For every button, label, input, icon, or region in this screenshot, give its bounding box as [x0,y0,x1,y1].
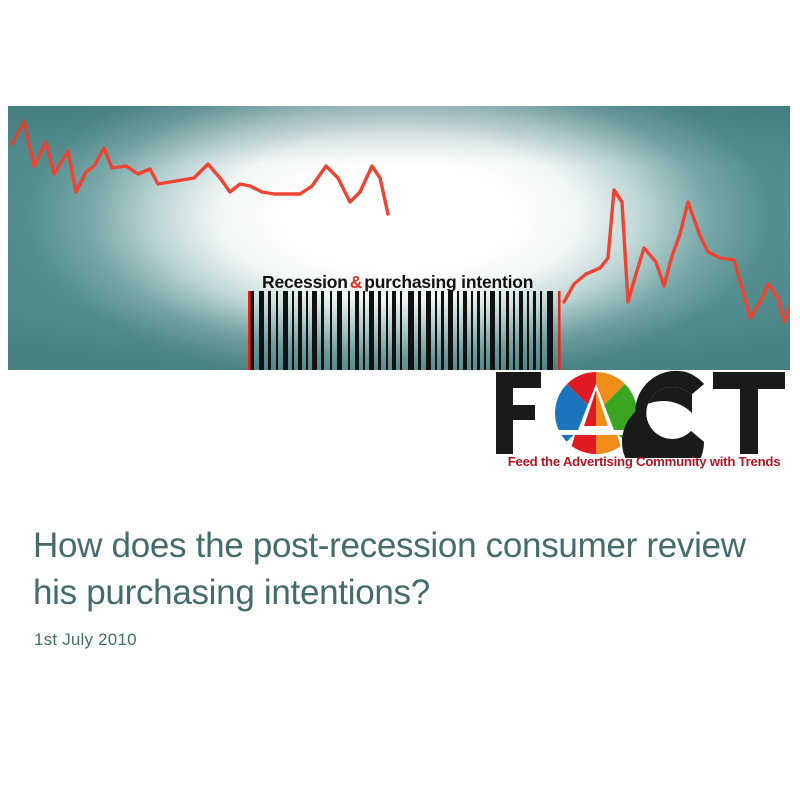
barcode-label-prefix: Recession [262,272,348,293]
logo-letter-c-shape [622,371,704,458]
logo-letter-f-shape [496,372,541,454]
recession-banner: Recession & purchasing intention [8,106,790,370]
page-date: 1st July 2010 [34,630,763,650]
barcode-graphic: Recession & purchasing intention [248,269,566,370]
page-title: How does the post-recession consumer rev… [33,522,763,616]
barcode-label-suffix: purchasing intention [364,272,533,293]
title-block: How does the post-recession consumer rev… [33,522,763,650]
fact-logo-mark [492,368,792,458]
barcode-label-ampersand: & [348,272,364,293]
barcode-bars [248,291,566,370]
fact-logo-tagline: Feed the Advertising Community with Tren… [496,454,792,469]
logo-letter-t-shape [713,372,785,454]
fact-logo: Feed the Advertising Community with Tren… [492,368,792,480]
